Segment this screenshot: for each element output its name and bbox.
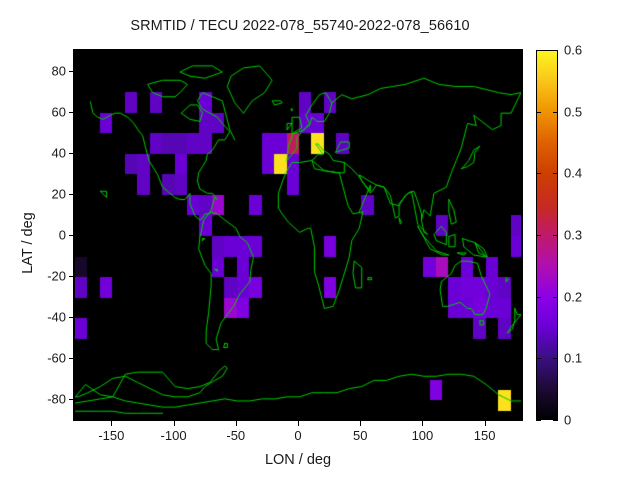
x-axis-label: LON / deg <box>74 452 522 468</box>
y-tick-mark <box>69 71 74 72</box>
y-tick-mark <box>69 153 74 154</box>
colorbar-tick-mark <box>553 112 558 113</box>
x-tick-label: 50 <box>325 428 395 443</box>
y-tick-mark <box>69 399 74 400</box>
map-plot-area[interactable] <box>74 50 522 420</box>
colorbar-tick-mark <box>536 235 541 236</box>
page-title: SRMTID / TECU 2022-078_55740-2022-078_56… <box>0 18 600 34</box>
x-tick-mark <box>298 421 299 426</box>
colorbar-tick-mark <box>536 420 541 421</box>
x-tick-label: -150 <box>76 428 146 443</box>
colorbar-tick-mark <box>553 420 558 421</box>
heatmap-canvas <box>75 51 522 420</box>
x-tick-mark <box>360 421 361 426</box>
y-tick-label: -20 <box>6 269 66 284</box>
y-tick-mark <box>69 235 74 236</box>
colorbar-tick-mark <box>536 50 541 51</box>
x-tick-mark <box>236 421 237 426</box>
y-tick-label: 40 <box>6 145 66 160</box>
y-tick-label: -80 <box>6 392 66 407</box>
colorbar-tick-mark <box>553 297 558 298</box>
y-axis-label: LAT / deg <box>20 153 36 333</box>
colorbar-tick-mark <box>536 112 541 113</box>
colorbar-tick-label: 0.3 <box>564 228 614 243</box>
colorbar-tick-mark <box>553 358 558 359</box>
colorbar-tick-label: 0 <box>564 413 614 428</box>
y-tick-label: -60 <box>6 351 66 366</box>
colorbar-tick-mark <box>553 173 558 174</box>
colorbar-tick-label: 0.4 <box>564 166 614 181</box>
y-tick-mark <box>69 194 74 195</box>
x-tick-label: 150 <box>450 428 520 443</box>
y-tick-mark <box>69 317 74 318</box>
x-tick-mark <box>111 421 112 426</box>
colorbar-tick-label: 0.5 <box>564 104 614 119</box>
colorbar-tick-mark <box>553 235 558 236</box>
y-tick-mark <box>69 112 74 113</box>
figure-canvas: SRMTID / TECU 2022-078_55740-2022-078_56… <box>0 0 640 480</box>
y-tick-label: 60 <box>6 104 66 119</box>
x-tick-label: -100 <box>139 428 209 443</box>
x-tick-mark <box>422 421 423 426</box>
colorbar-tick-mark <box>536 297 541 298</box>
colorbar-tick-mark <box>553 50 558 51</box>
y-tick-mark <box>69 358 74 359</box>
y-tick-label: 0 <box>6 228 66 243</box>
y-tick-label: 20 <box>6 186 66 201</box>
y-tick-label: -40 <box>6 310 66 325</box>
y-tick-mark <box>69 276 74 277</box>
colorbar-tick-label: 0.2 <box>564 289 614 304</box>
x-tick-mark <box>485 421 486 426</box>
colorbar-tick-mark <box>536 358 541 359</box>
colorbar-tick-mark <box>536 173 541 174</box>
x-tick-label: -50 <box>201 428 271 443</box>
x-tick-label: 100 <box>387 428 457 443</box>
colorbar-tick-label: 0.6 <box>564 43 614 58</box>
x-tick-label: 0 <box>263 428 333 443</box>
x-tick-mark <box>174 421 175 426</box>
y-tick-label: 80 <box>6 63 66 78</box>
colorbar-tick-label: 0.1 <box>564 351 614 366</box>
